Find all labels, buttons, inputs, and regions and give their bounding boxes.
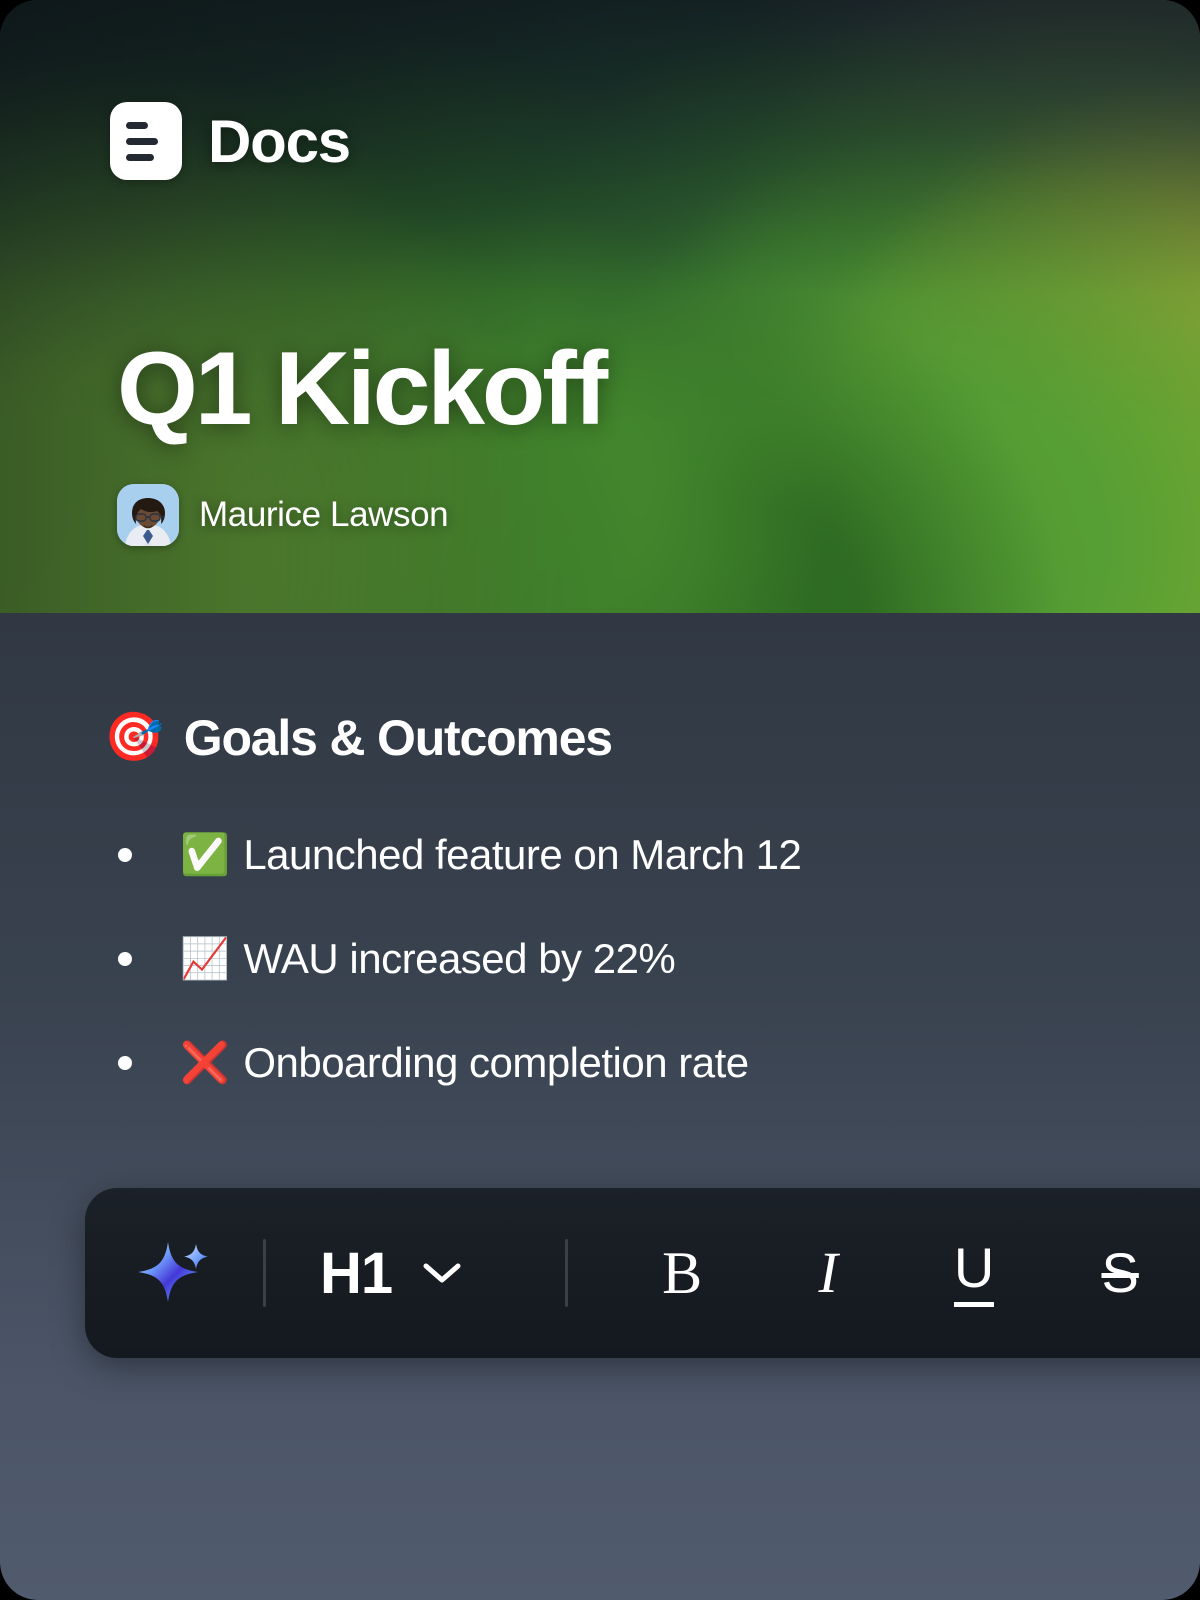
document-icon [110,102,182,180]
bold-label: B [662,1243,702,1303]
list-item-label: Onboarding completion rate [243,1039,748,1087]
dart-target-emoji: 🎯 [104,714,164,762]
byline: Maurice Lawson [117,484,448,546]
section-heading-label: Goals & Outcomes [184,709,612,767]
underline-label: U [954,1240,994,1307]
italic-label: I [818,1244,837,1302]
check-mark-button-emoji: ✅ [180,835,229,875]
page-title[interactable]: Q1 Kickoff [117,335,605,444]
document-body: 🎯 Goals & Outcomes ✅ Launched feature on… [0,613,1200,1143]
chevron-down-icon [422,1261,462,1285]
bullet-dot-icon [118,1056,132,1070]
brand-name: Docs [208,107,350,176]
bullet-dot-icon [118,848,132,862]
docs-app-window: Docs Q1 Kickoff Maurice Lawson [0,0,1200,1600]
ai-sparkle-icon [138,1236,212,1310]
list-item[interactable]: ✅ Launched feature on March 12 [118,831,1200,879]
section-heading[interactable]: 🎯 Goals & Outcomes [104,709,1200,767]
list-item-label: Launched feature on March 12 [243,831,801,879]
list-item[interactable]: ❌ Onboarding completion rate [118,1039,1200,1087]
strikethrough-label: S [1101,1245,1138,1301]
underline-button[interactable]: U [940,1236,1008,1310]
brand[interactable]: Docs [110,102,350,180]
italic-button[interactable]: I [794,1236,862,1310]
list-item-label: WAU increased by 22% [243,935,675,983]
bullet-dot-icon [118,952,132,966]
formatting-toolbar: H1 B I U S [85,1188,1200,1358]
bold-button[interactable]: B [648,1236,716,1310]
text-format-group: B I U S [648,1236,1154,1310]
heading-style-selector[interactable]: H1 [320,1240,462,1307]
heading-style-value: H1 [320,1240,392,1307]
list-item[interactable]: 📈 WAU increased by 22% [118,935,1200,983]
bullet-list: ✅ Launched feature on March 12 📈 WAU inc… [118,831,1200,1087]
author-name: Maurice Lawson [199,495,448,535]
toolbar-divider [565,1239,568,1307]
strikethrough-button[interactable]: S [1086,1236,1154,1310]
ai-assist-button[interactable] [130,1228,220,1318]
toolbar-divider [263,1239,266,1307]
chart-increasing-emoji: 📈 [180,939,229,979]
avatar[interactable] [117,484,179,546]
cross-mark-emoji: ❌ [180,1043,229,1083]
